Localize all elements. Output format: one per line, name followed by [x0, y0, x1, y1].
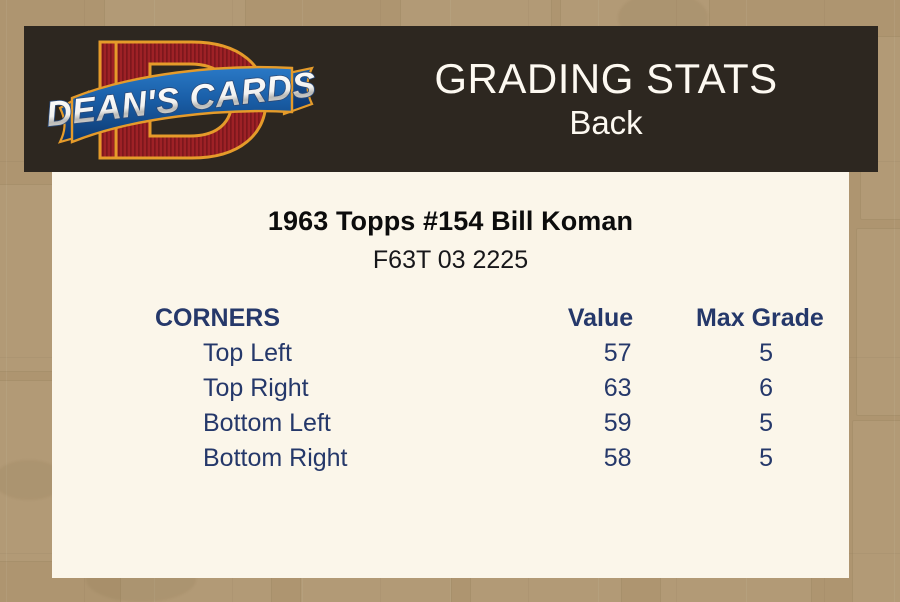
row-max-grade: 6 — [683, 374, 849, 403]
card-title: 1963 Topps #154 Bill Koman — [52, 206, 849, 237]
table-row: Top Right 63 6 — [52, 374, 849, 409]
section-label: CORNERS — [52, 304, 530, 333]
header-title-group: GRADING STATS Back — [334, 26, 878, 172]
row-label: Bottom Left — [52, 409, 552, 438]
table-header-row: CORNERS Value Max Grade — [52, 304, 849, 339]
column-header-max-grade: Max Grade — [671, 304, 849, 333]
page-subtitle: Back — [569, 105, 642, 142]
column-header-value: Value — [530, 304, 671, 333]
table-row: Top Left 57 5 — [52, 339, 849, 374]
row-label: Bottom Right — [52, 444, 552, 473]
table-row: Bottom Right 58 5 — [52, 444, 849, 479]
row-value: 63 — [552, 374, 683, 403]
row-max-grade: 5 — [683, 339, 849, 368]
row-value: 59 — [552, 409, 683, 438]
background-card-watermark — [856, 228, 900, 416]
table-row: Bottom Left 59 5 — [52, 409, 849, 444]
stats-panel: 1963 Topps #154 Bill Koman F63T 03 2225 … — [52, 172, 849, 578]
row-value: 57 — [552, 339, 683, 368]
row-label: Top Left — [52, 339, 552, 368]
page-title: GRADING STATS — [434, 56, 777, 101]
background-card-watermark — [852, 420, 900, 602]
card-serial: F63T 03 2225 — [52, 246, 849, 275]
row-value: 58 — [552, 444, 683, 473]
deans-cards-logo[interactable]: DEAN'S CARDS — [42, 30, 320, 170]
row-max-grade: 5 — [683, 409, 849, 438]
header-bar: DEAN'S CARDS GRADING STATS Back — [24, 26, 878, 172]
row-label: Top Right — [52, 374, 552, 403]
grading-stats-page: DEAN'S CARDS GRADING STATS Back 1963 Top… — [0, 0, 900, 602]
row-max-grade: 5 — [683, 444, 849, 473]
grading-stats-table: CORNERS Value Max Grade Top Left 57 5 To… — [52, 304, 849, 479]
